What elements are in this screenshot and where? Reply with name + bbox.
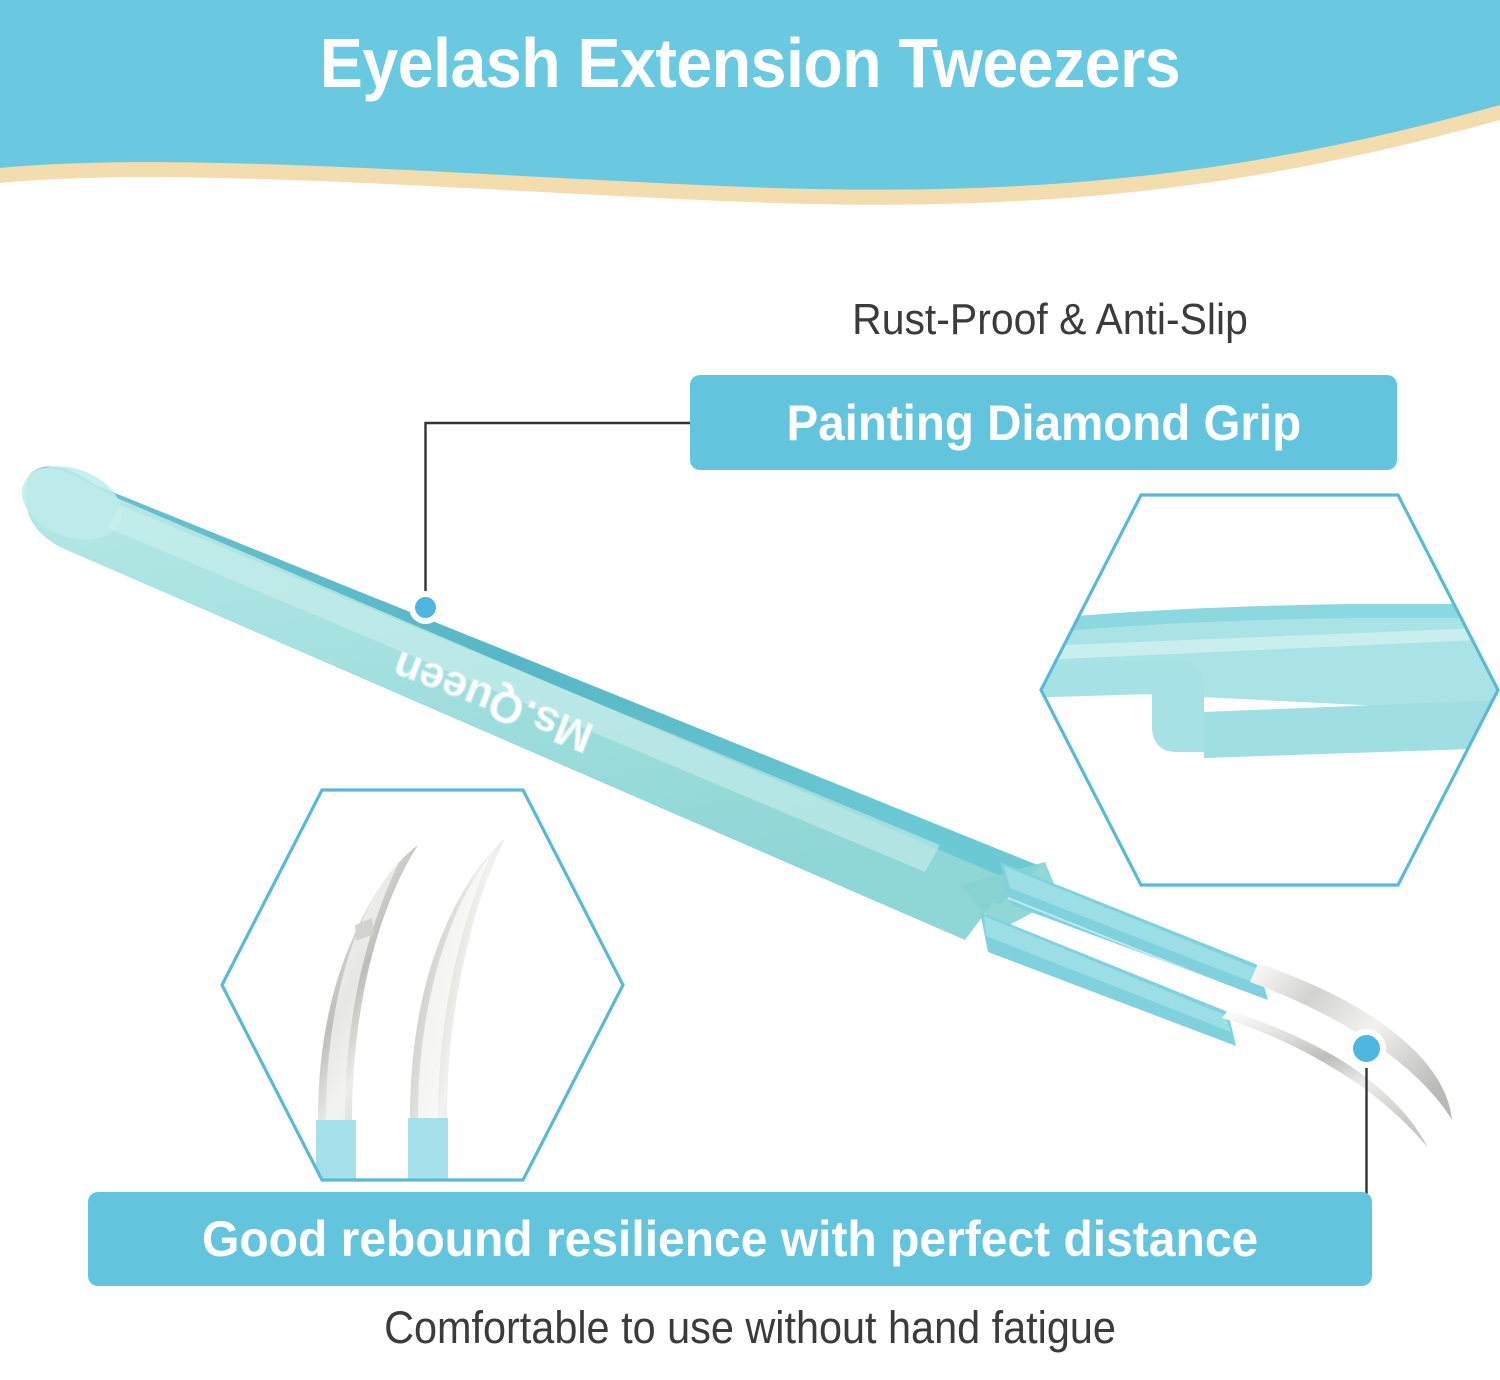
banner-good-rebound-label: Good rebound resilience with perfect dis… [202,1210,1258,1268]
product-infographic: Eyelash Extension Tweezers Rust-Proof & … [0,0,1500,1380]
tip-lower-metal [1222,1010,1428,1148]
caption-comfortable: Comfortable to use without hand fatigue [60,1302,1440,1354]
leader-line-grip [426,423,701,600]
inset-tips-closeup [222,790,623,1182]
inset-grip-closeup [1020,495,1500,885]
banner-painting-diamond-grip-label: Painting Diamond Grip [786,394,1301,452]
inset-grip-lower-arm [1204,700,1500,758]
tweezer-main-body [11,453,1452,1148]
banner-painting-diamond-grip: Painting Diamond Grip [690,375,1397,470]
tweezer-illustration: Ms.Queen [0,0,1500,1380]
inset-tip-left-base [316,1120,356,1182]
banner-good-rebound: Good rebound resilience with perfect dis… [88,1192,1372,1286]
inset-tip-right-base [408,1118,448,1182]
tip-upper-metal [1250,963,1452,1120]
callout-dot-icon-grip [415,597,436,618]
callout-dot-icon-tip [1353,1035,1380,1062]
